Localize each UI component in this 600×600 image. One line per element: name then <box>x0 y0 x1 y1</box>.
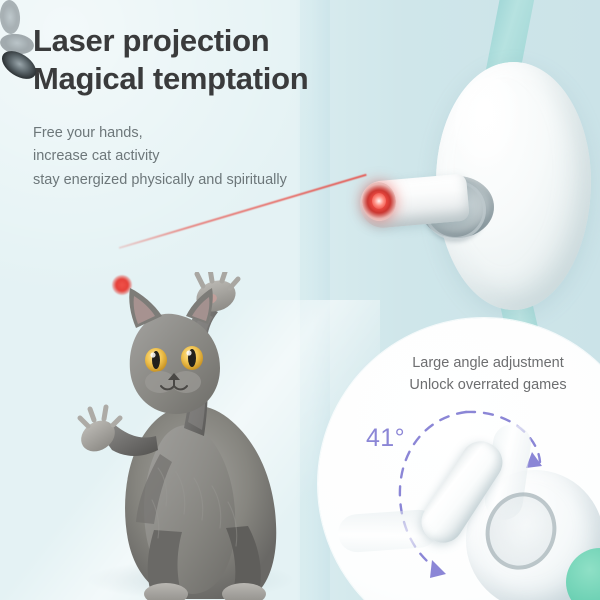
product-ad-canvas: Laser projection Magical temptation Free… <box>0 0 600 600</box>
headline-line-2: Magical temptation <box>33 60 433 98</box>
headline-line-1: Laser projection <box>33 23 269 58</box>
subtitle-line-1: Free your hands, <box>33 122 393 145</box>
angle-value-label: 41° <box>366 424 405 453</box>
device-body-highlight <box>455 78 525 174</box>
inset-caption-line-1: Large angle adjustment <box>388 352 588 374</box>
laser-lens-core-icon <box>372 193 386 209</box>
inset-caption: Large angle adjustment Unlock overrated … <box>388 352 588 396</box>
inset-caption-line-2: Unlock overrated games <box>388 374 588 396</box>
subtitle-line-2: increase cat activity <box>33 145 393 168</box>
headline: Laser projection Magical temptation <box>33 22 433 98</box>
cat-illustration <box>58 272 304 600</box>
